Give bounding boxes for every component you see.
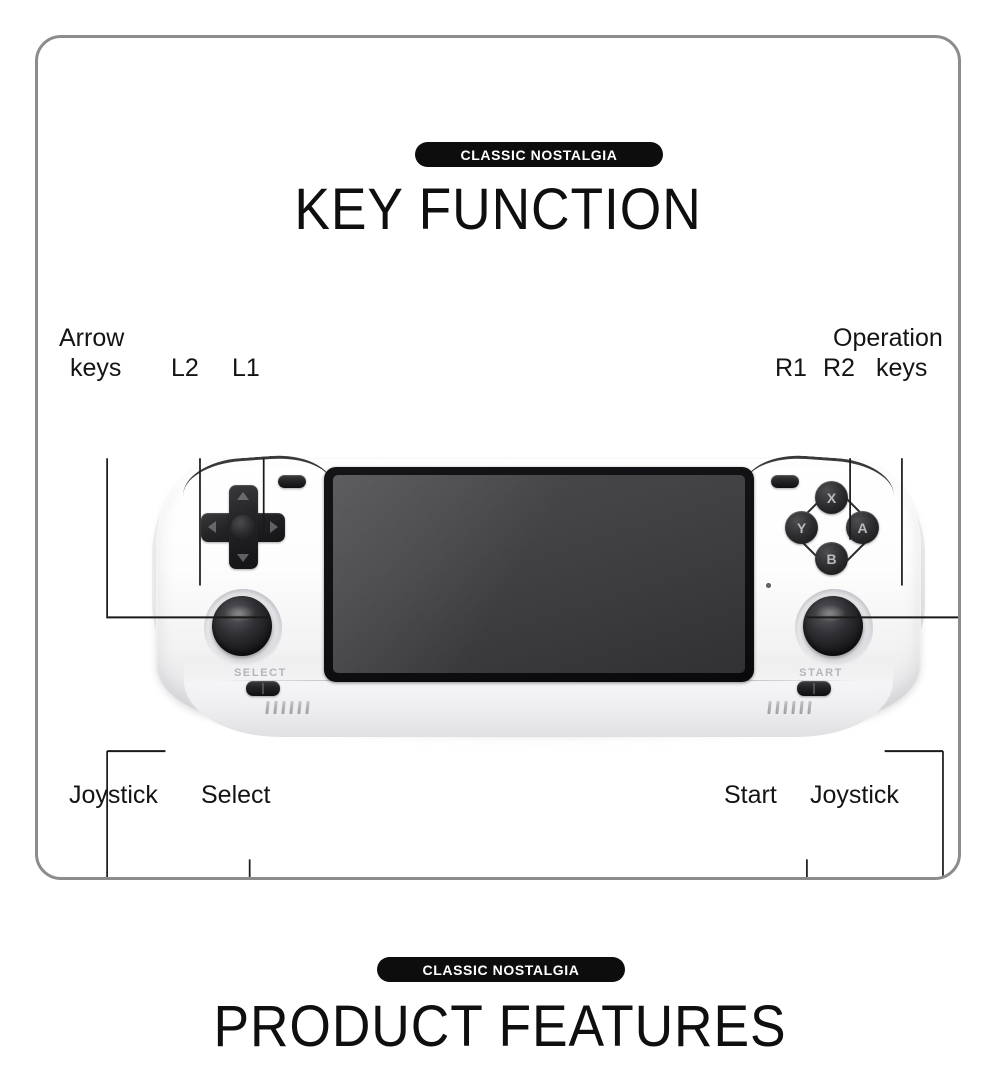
label-l1: L1 (232, 353, 260, 383)
operation-keys-cluster[interactable]: X Y A B (785, 481, 879, 575)
screen-bezel (324, 467, 754, 682)
dpad-right-arrow-icon (270, 521, 278, 533)
dpad-arrow-keys[interactable] (201, 485, 285, 569)
left-joystick-cap (212, 596, 272, 656)
label-arrow-keys-line2: keys (70, 353, 121, 383)
button-y[interactable]: Y (785, 511, 818, 544)
dpad-down-arrow-icon (237, 554, 249, 562)
right-joystick-cap (803, 596, 863, 656)
left-joystick-gloss (225, 605, 255, 622)
left-joystick[interactable] (204, 589, 282, 667)
badge-classic-nostalgia-bottom: CLASSIC NOSTALGIA (377, 957, 625, 982)
label-operation-keys-line1: Operation (833, 323, 943, 353)
button-a[interactable]: A (846, 511, 879, 544)
label-l2: L2 (171, 353, 199, 383)
badge-classic-nostalgia-top: CLASSIC NOSTALGIA (415, 142, 663, 167)
left-speaker-grille (266, 701, 309, 714)
label-arrow-keys-line1: Arrow (59, 323, 124, 353)
page-title-key-function: KEY FUNCTION (75, 175, 921, 245)
start-print-label: START (799, 667, 843, 679)
page-title-product-features: PRODUCT FEATURES (40, 992, 960, 1062)
key-function-card: CLASSIC NOSTALGIA KEY FUNCTION Arrow key… (35, 35, 961, 880)
display-screen (333, 475, 745, 673)
label-joystick-left: Joystick (69, 780, 158, 810)
label-joystick-right: Joystick (810, 780, 899, 810)
select-button[interactable] (246, 681, 280, 696)
select-print-label: SELECT (234, 667, 287, 679)
indicator-pinhole (766, 583, 771, 588)
screen-glare (333, 475, 745, 673)
right-joystick-gloss (816, 605, 846, 622)
badge-top-label: CLASSIC NOSTALGIA (461, 147, 618, 163)
dpad-center-hub (231, 515, 255, 539)
label-start: Start (724, 780, 777, 810)
label-r1: R1 (775, 353, 807, 383)
right-speaker-grille (768, 701, 811, 714)
dpad-up-arrow-icon (237, 492, 249, 500)
badge-bottom-label: CLASSIC NOSTALGIA (423, 962, 580, 978)
button-x[interactable]: X (815, 481, 848, 514)
dpad-left-arrow-icon (208, 521, 216, 533)
button-b[interactable]: B (815, 542, 848, 575)
label-operation-keys-line2: keys (876, 353, 927, 383)
left-top-oval-button[interactable] (278, 475, 306, 488)
handheld-console-illustration: X Y A B SELECT START (156, 443, 921, 743)
right-joystick[interactable] (795, 589, 873, 667)
label-select: Select (201, 780, 270, 810)
start-button[interactable] (797, 681, 831, 696)
right-top-oval-button[interactable] (771, 475, 799, 488)
label-r2: R2 (823, 353, 855, 383)
